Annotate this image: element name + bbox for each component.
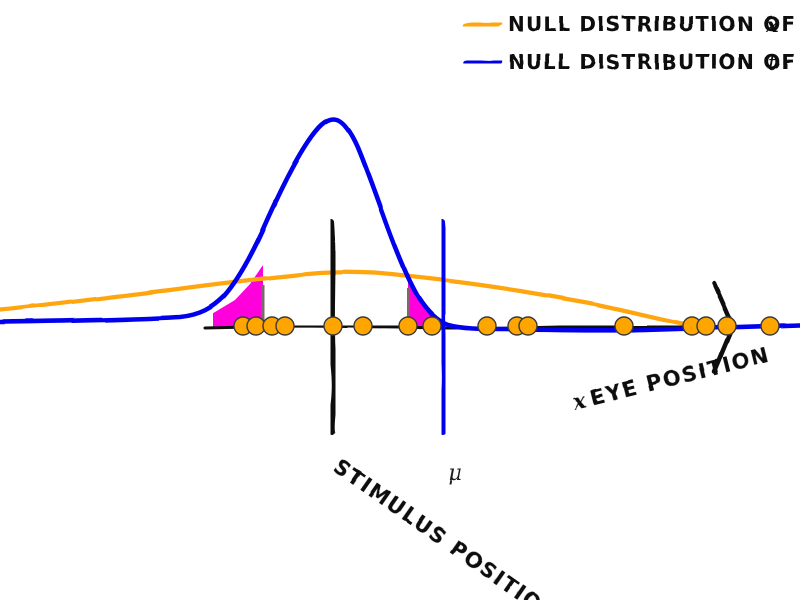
legend-swatch-orange xyxy=(465,23,500,26)
legend-variable-t: t xyxy=(768,51,777,75)
legend-entry-null-dist-x[interactable]: NULL DISTRIBUTION OF x xyxy=(465,12,796,37)
data-point xyxy=(354,317,372,335)
figure-canvas: NULL DISTRIBUTION OF x NULL DISTRIBUTION… xyxy=(0,0,800,600)
data-point xyxy=(519,317,537,335)
null-distribution-t-curve xyxy=(0,119,800,330)
data-point xyxy=(423,317,441,335)
data-point xyxy=(324,317,342,335)
legend-swatch-blue xyxy=(465,61,500,63)
data-point xyxy=(247,317,265,335)
data-point xyxy=(478,317,496,335)
legend: NULL DISTRIBUTION OF x NULL DISTRIBUTION… xyxy=(465,12,796,75)
data-point xyxy=(761,317,779,335)
legend-label-null-dist-x: NULL DISTRIBUTION OF xyxy=(508,12,796,36)
x-axis-label-text: EYE POSITION xyxy=(588,343,772,411)
stimulus-axis-label-text: STIMULUS POSITION xyxy=(329,454,563,600)
x-axis-label-group: x EYE POSITION xyxy=(569,342,772,416)
data-point xyxy=(697,317,715,335)
data-point xyxy=(615,317,633,335)
data-point xyxy=(718,317,736,335)
mu-position-line xyxy=(442,222,445,432)
data-point xyxy=(399,317,417,335)
stimulus-axis-label-group: STIMULUS POSITION xyxy=(329,454,563,600)
x-axis-variable: x xyxy=(569,387,590,416)
data-point xyxy=(276,317,294,335)
mu-label: μ xyxy=(448,461,462,486)
legend-label-null-dist-t: NULL DISTRIBUTION OF xyxy=(508,50,796,74)
statistics-figure: NULL DISTRIBUTION OF x NULL DISTRIBUTION… xyxy=(0,0,800,600)
null-distribution-x-curve xyxy=(0,272,685,324)
legend-variable-x: x xyxy=(765,12,779,37)
legend-entry-null-dist-t[interactable]: NULL DISTRIBUTION OF t xyxy=(465,50,796,75)
